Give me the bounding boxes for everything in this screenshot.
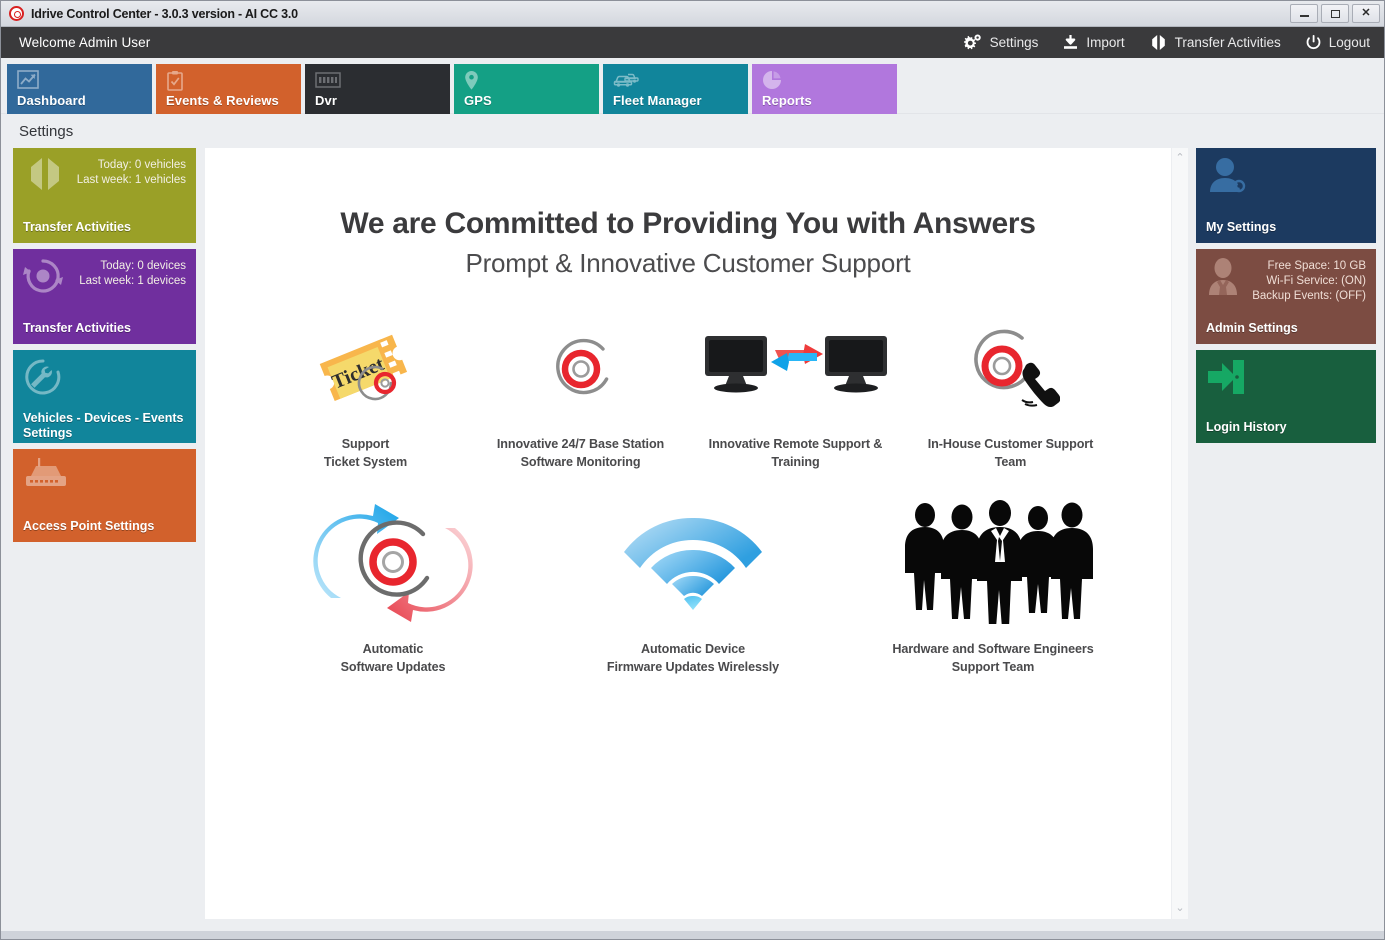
idrive-logo-icon <box>9 6 24 21</box>
clipboard-check-icon <box>166 69 301 91</box>
title-bar: Idrive Control Center - 3.0.3 version - … <box>1 1 1384 27</box>
tab-events-reviews[interactable]: Events & Reviews <box>156 64 301 114</box>
sidebar-item-transfer-activities-vehicles[interactable]: Today: 0 vehicles Last week: 1 vehicles … <box>13 148 196 243</box>
sidebar-item-admin-settings-label: Admin Settings <box>1206 311 1366 336</box>
toolbar-logout-label: Logout <box>1329 35 1370 50</box>
toolbar-transfer-label: Transfer Activities <box>1175 35 1281 50</box>
sidebar-item-transfer-devices-label: Transfer Activities <box>23 311 186 336</box>
toolbar-transfer-activities-button[interactable]: Transfer Activities <box>1149 34 1281 51</box>
user-settings-icon <box>1206 156 1248 201</box>
tab-reports[interactable]: Reports <box>752 64 897 114</box>
main-content-panel: We are Committed to Providing You with A… <box>205 148 1171 919</box>
feature-caption: Innovative Remote Support &Training <box>709 435 883 471</box>
breadcrumb-bar: Settings <box>1 114 1384 148</box>
page-body: Today: 0 vehicles Last week: 1 vehicles … <box>1 148 1384 931</box>
auto-update-refresh-icon <box>303 499 483 624</box>
admin-backup-events: Backup Events: (OFF) <box>1252 289 1366 304</box>
sidebar-item-transfer-vehicles-label: Transfer Activities <box>23 210 186 235</box>
transfer-arrows-icon <box>1149 34 1168 51</box>
power-icon <box>1305 34 1322 51</box>
scroll-up-icon[interactable]: ⌃ <box>1175 153 1184 164</box>
tab-fleet-manager[interactable]: Fleet Manager <box>603 64 748 114</box>
toolbar-import-button[interactable]: Import <box>1062 34 1124 51</box>
sidebar-item-login-history-label: Login History <box>1206 410 1366 435</box>
maximize-button[interactable] <box>1321 4 1349 23</box>
tab-reports-label: Reports <box>762 93 812 108</box>
download-icon <box>1062 34 1079 51</box>
sidebar-item-my-settings[interactable]: My Settings <box>1196 148 1376 243</box>
transfer-vehicles-today: Today: 0 vehicles <box>77 158 186 173</box>
transfer-devices-today: Today: 0 devices <box>79 259 186 274</box>
admin-wifi-service: Wi-Fi Service: (ON) <box>1252 274 1366 289</box>
hero-section: We are Committed to Providing You with A… <box>205 148 1171 279</box>
main-content-column: We are Committed to Providing You with A… <box>205 148 1188 919</box>
page-subheadline: Prompt & Innovative Customer Support <box>205 248 1171 279</box>
tab-fleet-manager-label: Fleet Manager <box>613 93 702 108</box>
sidebar-item-admin-settings[interactable]: Free Space: 10 GB Wi-Fi Service: (ON) Ba… <box>1196 249 1376 344</box>
transfer-vehicles-lastweek: Last week: 1 vehicles <box>77 173 186 188</box>
feature-row-1: Ticket SupportTicket System <box>205 319 1171 471</box>
module-tab-strip: Dashboard Events & Reviews <box>1 58 1384 114</box>
sidebar-item-access-point-label: Access Point Settings <box>23 509 186 534</box>
admin-free-space: Free Space: 10 GB <box>1252 259 1366 274</box>
toolbar-settings-button[interactable]: Settings <box>963 34 1039 51</box>
feature-caption: SupportTicket System <box>324 435 407 471</box>
breadcrumb: Settings <box>19 123 73 140</box>
dvr-icon <box>315 69 450 91</box>
gear-icon <box>963 34 983 51</box>
feature-caption: In-House Customer SupportTeam <box>928 435 1093 471</box>
support-ticket-icon: Ticket <box>311 319 421 419</box>
remote-monitors-icon <box>701 319 891 419</box>
feature-base-station-monitoring: Innovative 24/7 Base StationSoftware Mon… <box>473 319 688 471</box>
toolbar-settings-label: Settings <box>990 35 1039 50</box>
sidebar-item-access-point-settings[interactable]: Access Point Settings <box>13 449 196 542</box>
wrench-icon <box>23 358 63 401</box>
toolbar-logout-button[interactable]: Logout <box>1305 34 1370 51</box>
page-headline: We are Committed to Providing You with A… <box>205 206 1171 242</box>
left-sidebar: Today: 0 vehicles Last week: 1 vehicles … <box>13 148 196 919</box>
login-exit-icon <box>1206 358 1246 401</box>
feature-caption: Automatic DeviceFirmware Updates Wireles… <box>607 640 779 676</box>
feature-caption: Hardware and Software EngineersSupport T… <box>892 640 1093 676</box>
feature-inhouse-support-team: In-House Customer SupportTeam <box>903 319 1118 471</box>
admin-user-icon <box>1206 257 1240 302</box>
tab-gps[interactable]: GPS <box>454 64 599 114</box>
vehicles-icon <box>613 69 748 91</box>
tab-gps-label: GPS <box>464 93 492 108</box>
transfer-arrows-icon <box>23 156 67 197</box>
feature-automatic-software-updates: AutomaticSoftware Updates <box>243 499 543 676</box>
content-scrollbar[interactable]: ⌃ ⌄ <box>1171 148 1188 919</box>
engineers-team-icon <box>893 499 1093 624</box>
tab-dashboard[interactable]: Dashboard <box>7 64 152 114</box>
scroll-down-icon[interactable]: ⌄ <box>1175 903 1184 914</box>
chart-line-icon <box>17 69 152 91</box>
tab-dvr[interactable]: Dvr <box>305 64 450 114</box>
feature-remote-support-training: Innovative Remote Support &Training <box>688 319 903 471</box>
window-controls: ✕ <box>1290 4 1380 23</box>
top-toolbar: Welcome Admin User Settings <box>1 27 1384 58</box>
minimize-button[interactable] <box>1290 4 1318 23</box>
transfer-devices-lastweek: Last week: 1 devices <box>79 274 186 289</box>
window-title: Idrive Control Center - 3.0.3 version - … <box>31 7 298 21</box>
tab-dvr-label: Dvr <box>315 93 337 108</box>
close-button[interactable]: ✕ <box>1352 4 1380 23</box>
feature-device-firmware-updates: Automatic DeviceFirmware Updates Wireles… <box>543 499 843 676</box>
sidebar-item-transfer-activities-devices[interactable]: Today: 0 devices Last week: 1 devices Tr… <box>13 249 196 344</box>
toolbar-import-label: Import <box>1086 35 1124 50</box>
device-sync-icon <box>23 257 63 300</box>
right-sidebar: My Settings Free Space: 10 GB Wi-Fi Serv… <box>1196 148 1376 919</box>
tab-events-reviews-label: Events & Reviews <box>166 93 279 108</box>
feature-engineers-support-team: Hardware and Software EngineersSupport T… <box>843 499 1143 676</box>
map-pin-icon <box>464 69 599 91</box>
feature-caption: Innovative 24/7 Base StationSoftware Mon… <box>497 435 664 471</box>
feature-row-2: AutomaticSoftware Updates <box>205 499 1171 676</box>
application-window: Idrive Control Center - 3.0.3 version - … <box>0 0 1385 940</box>
sidebar-item-vehicles-devices-events-settings[interactable]: Vehicles - Devices - Events Settings <box>13 350 196 443</box>
support-phone-target-icon <box>962 319 1060 419</box>
status-strip <box>1 931 1384 939</box>
feature-support-ticket-system: Ticket SupportTicket System <box>258 319 473 471</box>
sidebar-item-vehicles-settings-label: Vehicles - Devices - Events Settings <box>23 401 186 441</box>
wifi-signal-icon <box>618 499 768 624</box>
sidebar-item-login-history[interactable]: Login History <box>1196 350 1376 443</box>
pie-chart-icon <box>762 69 897 91</box>
welcome-message: Welcome Admin User <box>19 35 150 50</box>
base-station-target-icon <box>541 319 621 419</box>
sidebar-item-my-settings-label: My Settings <box>1206 210 1366 235</box>
tab-dashboard-label: Dashboard <box>17 93 86 108</box>
toolbar-actions: Settings Import Transf <box>963 34 1370 51</box>
feature-caption: AutomaticSoftware Updates <box>341 640 446 676</box>
router-icon <box>23 457 69 496</box>
